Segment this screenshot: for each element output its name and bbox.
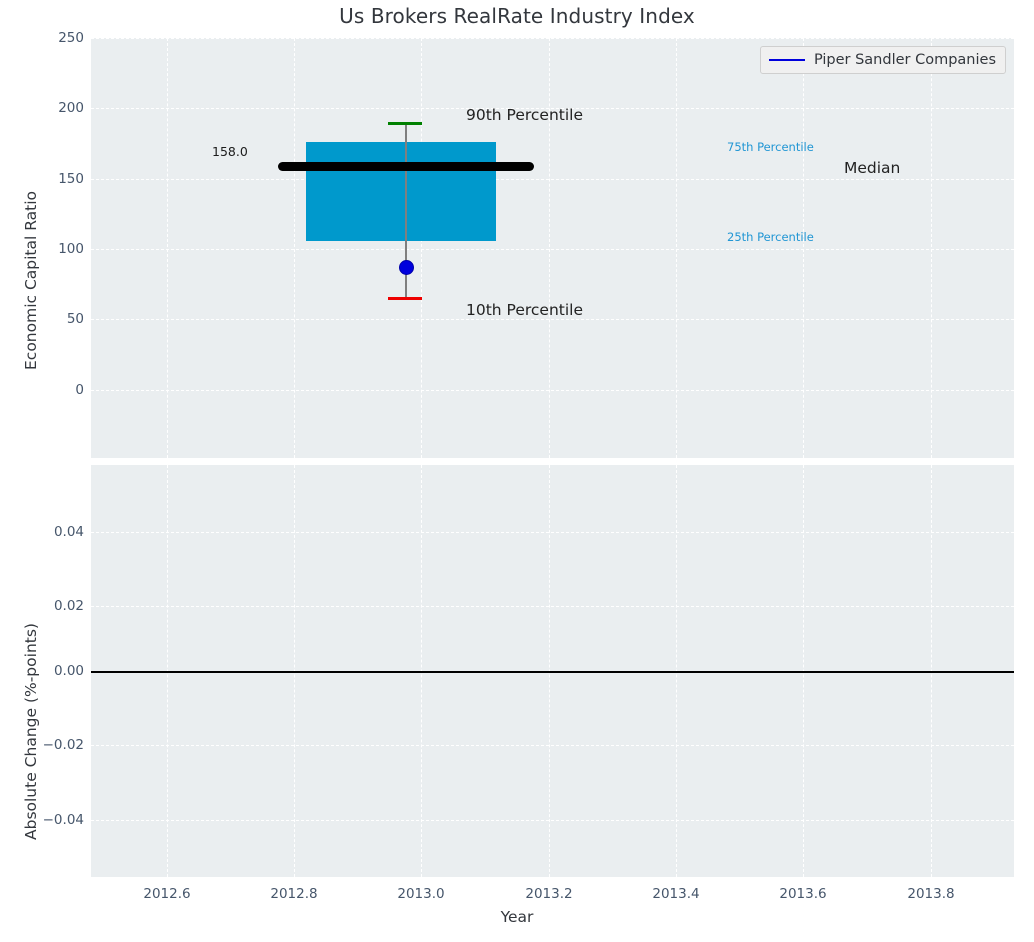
chart-title: Us Brokers RealRate Industry Index (0, 4, 1034, 28)
zero-reference-line (91, 671, 1014, 673)
y-tick-label: 0.02 (54, 598, 84, 614)
y-axis-title-top: Economic Capital Ratio (22, 191, 40, 370)
annotation-75th-percentile: 75th Percentile (727, 140, 814, 154)
median-line (278, 162, 534, 171)
whisker-cap-p90 (388, 122, 422, 125)
x-tick-label: 2013.2 (525, 886, 572, 902)
legend[interactable]: Piper Sandler Companies (760, 46, 1006, 74)
gridline-horizontal (91, 606, 1014, 607)
chart-figure: Us Brokers RealRate Industry Index 158.0 (0, 0, 1034, 942)
plot-area-absolute-change (91, 465, 1014, 877)
gridline-horizontal (91, 532, 1014, 533)
y-tick-label: 50 (67, 311, 84, 327)
gridline-horizontal (91, 820, 1014, 821)
gridline-vertical (167, 38, 168, 458)
gridline-vertical (803, 38, 804, 458)
x-tick-label: 2013.0 (397, 886, 444, 902)
y-tick-label: 100 (58, 241, 84, 257)
x-tick-label: 2013.4 (652, 886, 699, 902)
x-axis-title: Year (0, 908, 1034, 926)
x-tick-label: 2013.8 (907, 886, 954, 902)
gridline-vertical (294, 38, 295, 458)
annotation-25th-percentile: 25th Percentile (727, 230, 814, 244)
y-tick-label: 200 (58, 100, 84, 116)
gridline-horizontal (91, 745, 1014, 746)
gridline-horizontal (91, 179, 1014, 180)
y-axis-title-bottom: Absolute Change (%-points) (22, 623, 40, 840)
y-tick-label: 250 (58, 30, 84, 46)
y-tick-label: −0.04 (43, 812, 84, 828)
x-tick-label: 2013.6 (779, 886, 826, 902)
gridline-vertical (421, 38, 422, 458)
whisker-cap-p10 (388, 297, 422, 300)
x-tick-label: 2012.8 (270, 886, 317, 902)
plot-area-economic-capital-ratio: 158.0 90th Percentile 10th Percentile 75… (91, 38, 1014, 458)
y-tick-label: 0 (75, 382, 84, 398)
legend-entry-label: Piper Sandler Companies (814, 52, 996, 68)
gridline-horizontal (91, 38, 1014, 39)
y-tick-label: 150 (58, 171, 84, 187)
company-marker-piper-sandler (399, 260, 414, 275)
y-tick-label: −0.02 (43, 737, 84, 753)
gridline-vertical (676, 38, 677, 458)
gridline-horizontal (91, 319, 1014, 320)
gridline-vertical (549, 38, 550, 458)
gridline-horizontal (91, 390, 1014, 391)
legend-line-swatch-icon (769, 59, 805, 61)
annotation-10th-percentile: 10th Percentile (466, 301, 583, 319)
x-tick-label: 2012.6 (143, 886, 190, 902)
median-value-label: 158.0 (212, 144, 248, 159)
annotation-90th-percentile: 90th Percentile (466, 106, 583, 124)
box-interquartile-range (306, 142, 496, 241)
gridline-vertical (931, 38, 932, 458)
y-tick-label: 0.00 (54, 663, 84, 679)
annotation-median: Median (844, 159, 900, 177)
gridline-horizontal (91, 249, 1014, 250)
y-tick-label: 0.04 (54, 524, 84, 540)
